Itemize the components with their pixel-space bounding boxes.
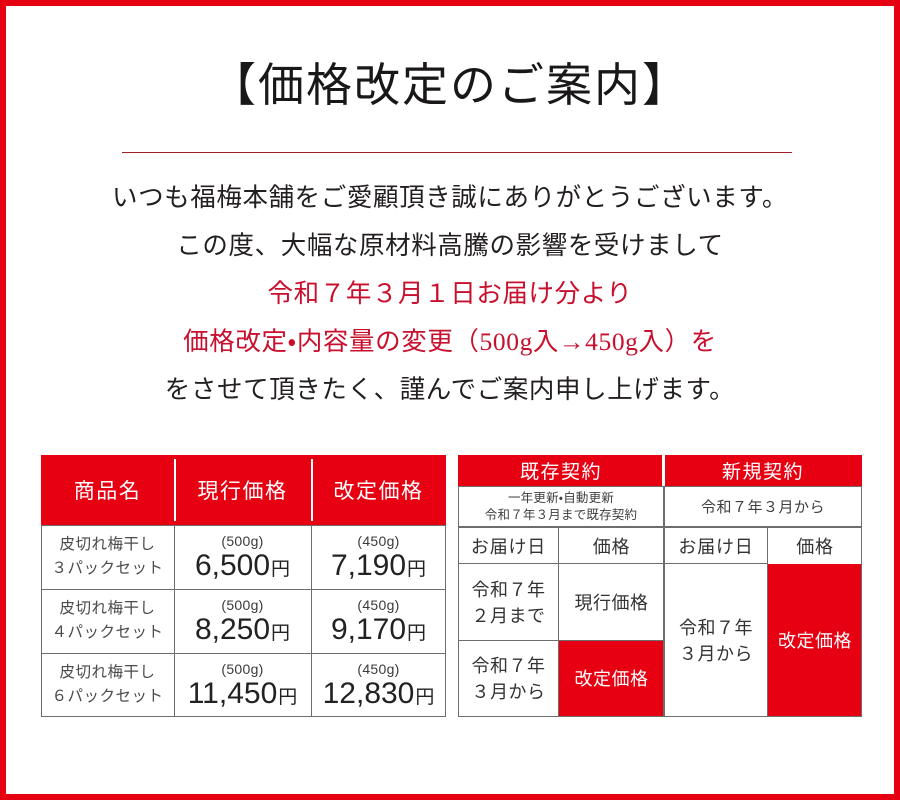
new-date-line2: ３月から <box>679 641 753 667</box>
contract-col-new-price: 価格 <box>768 527 862 564</box>
current-amount: 6,500円 <box>195 551 290 581</box>
title-divider <box>122 152 792 153</box>
body-line-3: 令和７年３月１日お届け分より <box>6 270 894 318</box>
rt-grid-h-5 <box>458 716 862 717</box>
current-gram: (500g) <box>221 598 263 612</box>
current-amount: 8,250円 <box>195 615 290 645</box>
product-name-line2: ４パックセット <box>51 621 163 645</box>
body-line-5: をさせて頂きたく、謹んでご案内申し上げます。 <box>6 366 894 414</box>
contract-header-existing: 既存契約 <box>458 455 664 486</box>
table-row: 皮切れ梅干し ３パックセット <box>41 525 174 589</box>
rt-grid-v-1 <box>558 527 559 717</box>
page-title: 【価格改定のご案内】 <box>6 61 894 112</box>
revised-amount: 12,830円 <box>323 679 435 709</box>
new-date-line1: 令和７年 <box>679 615 753 641</box>
body-line-2: この度、大幅な原材料高騰の影響を受けまして <box>6 222 894 270</box>
price-table-header-current: 現行価格 <box>174 455 311 525</box>
contract-col-new-date: お届け日 <box>664 527 768 564</box>
page-content: 【価格改定のご案内】 いつも福梅本舗をご愛顧頂き誠にありがとうございます。 この… <box>6 6 894 794</box>
current-price-cell: (500g) 8,250円 <box>174 589 311 653</box>
existing-date-cell-2: 令和７年 ３月から <box>458 641 559 717</box>
revised-price-cell: (450g) 12,830円 <box>311 653 446 717</box>
grid-h-1 <box>41 525 446 526</box>
rt-grid-v-2 <box>663 486 665 717</box>
grid-h-3 <box>41 653 446 654</box>
current-gram: (500g) <box>221 534 263 548</box>
rt-grid-v-left <box>458 486 459 717</box>
product-name-line1: 皮切れ梅干し <box>51 661 163 685</box>
price-table-header-product: 商品名 <box>41 455 174 525</box>
product-name-line1: 皮切れ梅干し <box>51 597 163 621</box>
body-paragraph: いつも福梅本舗をご愛顧頂き誠にありがとうございます。 この度、大幅な原材料高騰の… <box>6 174 894 414</box>
revised-amount: 7,190円 <box>331 551 426 581</box>
header-divider-1 <box>174 459 176 521</box>
contract-note-existing: 一年更新・自動更新 令和７年３月まで既存契約 <box>458 486 664 527</box>
notice-page: 【価格改定のご案内】 いつも福梅本舗をご愛顧頂き誠にありがとうございます。 この… <box>0 0 900 800</box>
revised-amount: 9,170円 <box>331 615 426 645</box>
current-price-cell: (500g) 11,450円 <box>174 653 311 717</box>
current-gram: (500g) <box>221 662 263 676</box>
contract-condition-table: 既存契約 新規契約 一年更新・自動更新 令和７年３月まで既存契約 令和７年３月か… <box>458 455 862 717</box>
grid-v-1 <box>174 525 175 717</box>
rt-grid-h-3 <box>458 563 768 564</box>
body-line-4: 価格改定・内容量の変更（500g入→450g入）を <box>6 318 894 366</box>
product-name-line2: ６パックセット <box>51 685 163 709</box>
new-contract-date-cell: 令和７年 ３月から <box>664 564 768 717</box>
grid-v-2 <box>311 525 312 717</box>
note-existing-line1: 一年更新・自動更新 <box>485 490 637 507</box>
rt-grid-h-1 <box>458 486 862 487</box>
new-contract-price-cell: 改定価格 <box>768 564 862 717</box>
contract-col-existing-price: 価格 <box>559 527 664 564</box>
grid-v-left <box>41 525 42 717</box>
table-row: 皮切れ梅干し ４パックセット <box>41 589 174 653</box>
grid-h-2 <box>41 589 446 590</box>
product-name-line1: 皮切れ梅干し <box>51 533 163 557</box>
body-line-1: いつも福梅本舗をご愛顧頂き誠にありがとうございます。 <box>6 174 894 222</box>
grid-v-right <box>445 525 446 717</box>
price-comparison-table: 商品名 現行価格 改定価格 皮切れ梅干し ３パックセット (500g) 6,50… <box>41 455 446 717</box>
existing-date-2-line2: ３月から <box>472 679 546 705</box>
price-table-header-revised: 改定価格 <box>311 455 446 525</box>
rt-grid-h-4 <box>458 640 664 641</box>
current-price-cell: (500g) 6,500円 <box>174 525 311 589</box>
rt-grid-v-3 <box>767 527 768 717</box>
existing-date-cell-1: 令和７年 ２月まで <box>458 564 559 641</box>
revised-gram: (450g) <box>357 598 399 612</box>
revised-price-cell: (450g) 7,190円 <box>311 525 446 589</box>
contract-col-existing-date: お届け日 <box>458 527 559 564</box>
revised-gram: (450g) <box>357 534 399 548</box>
current-amount: 11,450円 <box>188 679 298 709</box>
existing-date-1-line2: ２月まで <box>472 603 546 629</box>
group-header-divider <box>662 455 665 486</box>
note-existing-line2: 令和７年３月まで既存契約 <box>485 507 637 524</box>
rt-grid-v-right <box>861 486 862 717</box>
table-row: 皮切れ梅干し ６パックセット <box>41 653 174 717</box>
existing-date-1-line1: 令和７年 <box>472 577 546 603</box>
existing-price-cell-1: 現行価格 <box>559 564 664 641</box>
revised-gram: (450g) <box>357 662 399 676</box>
existing-date-2-line1: 令和７年 <box>472 653 546 679</box>
contract-header-new: 新規契約 <box>664 455 862 486</box>
contract-note-new: 令和７年３月から <box>664 486 862 527</box>
grid-h-4 <box>41 716 446 717</box>
product-name-line2: ３パックセット <box>51 557 163 581</box>
revised-price-cell: (450g) 9,170円 <box>311 589 446 653</box>
rt-grid-h-2 <box>458 526 862 528</box>
header-divider-2 <box>311 459 313 521</box>
existing-price-cell-2: 改定価格 <box>559 641 664 717</box>
